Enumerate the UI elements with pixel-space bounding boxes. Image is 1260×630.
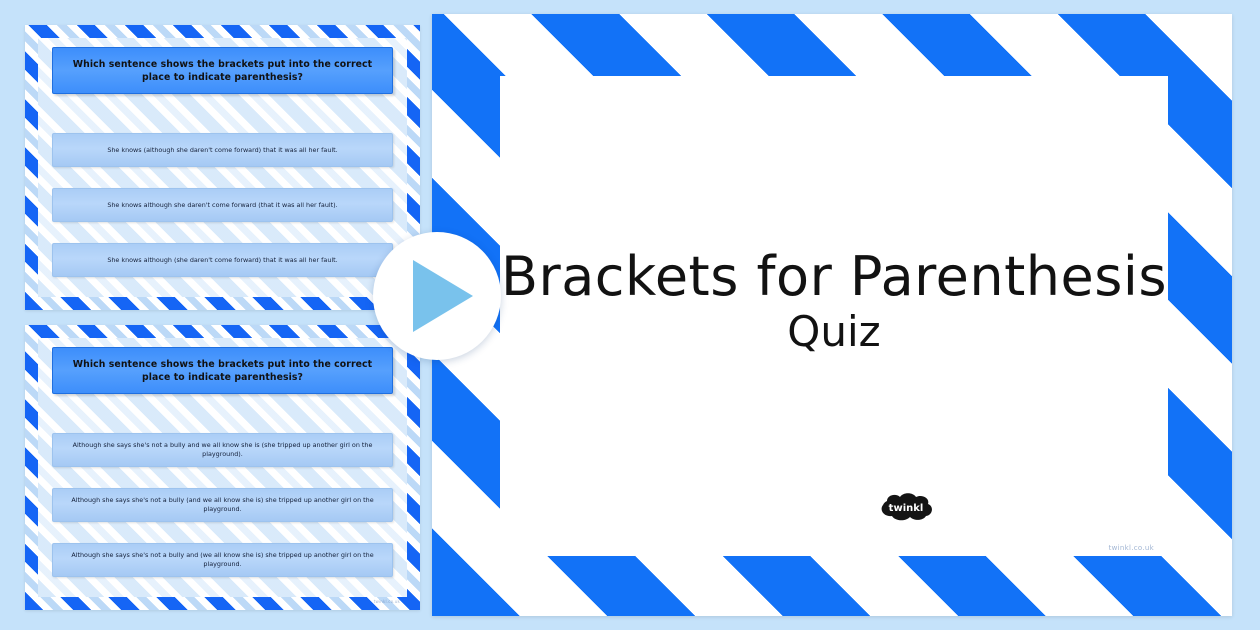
question-text: Which sentence shows the brackets put in… bbox=[61, 58, 384, 84]
answer-option-1a[interactable]: She knows (although she daren't come for… bbox=[52, 133, 393, 167]
answer-option-text: Although she says she's not a bully and … bbox=[65, 441, 380, 459]
presentation-preview: Which sentence shows the brackets put in… bbox=[0, 0, 1260, 630]
answer-option-text: Although she says she's not a bully and … bbox=[65, 551, 380, 569]
page-title: Brackets for Parenthesis bbox=[500, 248, 1168, 306]
slide-thumbnail-1[interactable]: Which sentence shows the brackets put in… bbox=[25, 25, 420, 310]
play-button[interactable] bbox=[373, 232, 501, 360]
answer-option-2b[interactable]: Although she says she's not a bully (and… bbox=[52, 488, 393, 522]
answer-option-text: She knows (although she daren't come for… bbox=[107, 146, 337, 155]
answer-option-1c[interactable]: She knows although (she daren't come for… bbox=[52, 243, 393, 277]
play-triangle-icon bbox=[413, 260, 473, 332]
title-block: Brackets for Parenthesis Quiz bbox=[500, 248, 1168, 356]
thumbnail-watermark: twinkl.co.uk bbox=[374, 599, 400, 604]
answer-option-text: She knows although (she daren't come for… bbox=[107, 256, 337, 265]
answer-option-text: Although she says she's not a bully (and… bbox=[65, 496, 380, 514]
answer-option-2c[interactable]: Although she says she's not a bully and … bbox=[52, 543, 393, 577]
title-card: Brackets for Parenthesis Quiz twinkl twi… bbox=[500, 76, 1168, 556]
answer-option-1b[interactable]: She knows although she daren't come forw… bbox=[52, 188, 393, 222]
question-header-2: Which sentence shows the brackets put in… bbox=[52, 347, 393, 394]
answer-option-text: She knows although she daren't come forw… bbox=[107, 201, 337, 210]
main-slide-preview[interactable]: Brackets for Parenthesis Quiz twinkl twi… bbox=[432, 14, 1232, 616]
page-subtitle: Quiz bbox=[500, 308, 1168, 356]
slide-watermark: twinkl.co.uk bbox=[1109, 544, 1154, 552]
question-header-1: Which sentence shows the brackets put in… bbox=[52, 47, 393, 94]
twinkl-logo: twinkl bbox=[875, 492, 937, 522]
question-text: Which sentence shows the brackets put in… bbox=[61, 358, 384, 384]
svg-text:twinkl: twinkl bbox=[889, 503, 924, 514]
slide-thumbnail-2[interactable]: Which sentence shows the brackets put in… bbox=[25, 325, 420, 610]
answer-option-2a[interactable]: Although she says she's not a bully and … bbox=[52, 433, 393, 467]
slide-thumbnail-column: Which sentence shows the brackets put in… bbox=[25, 25, 420, 610]
